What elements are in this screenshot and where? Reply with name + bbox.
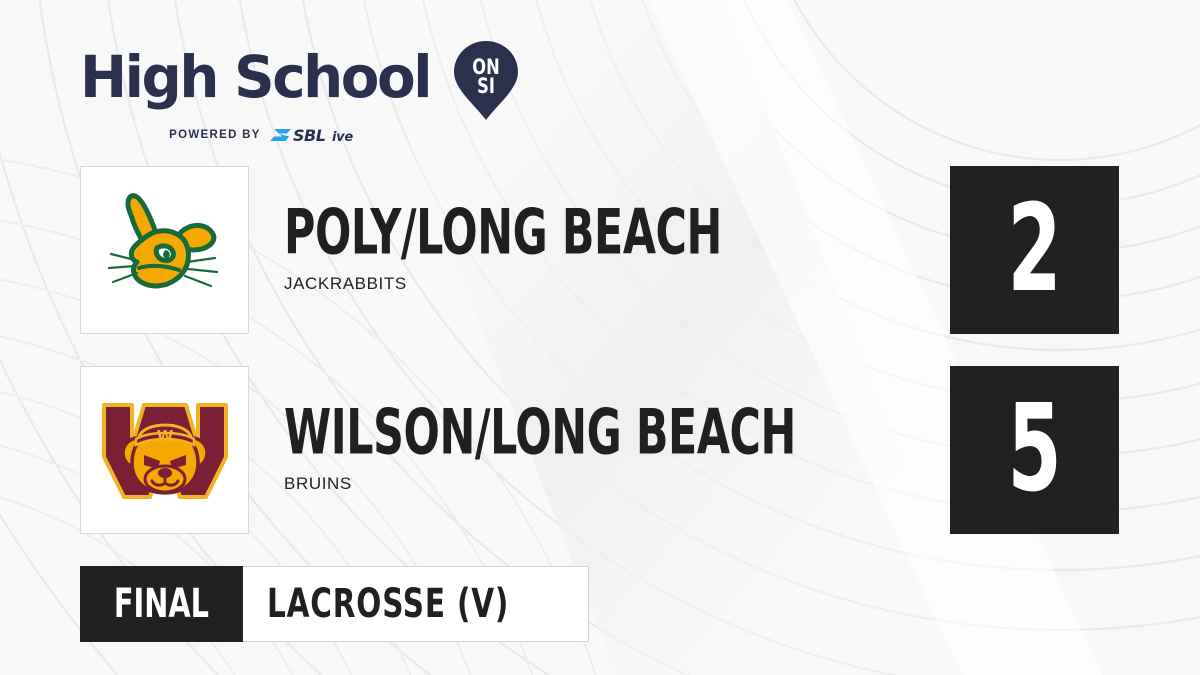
logo-row: High School ON SI xyxy=(80,38,519,118)
powered-by-row: POWERED BY SBL ive xyxy=(80,125,459,145)
team-mascot: JACKRABBITS xyxy=(284,274,818,294)
team-row: W WILSON/LONG BEACH BRUINS 5 xyxy=(0,366,1200,534)
team-row: POLY/LONG BEACH JACKRABBITS 2 xyxy=(0,166,1200,334)
status-badge-label: FINAL xyxy=(114,581,209,627)
svg-text:SBL: SBL xyxy=(293,126,326,145)
svg-text:SI: SI xyxy=(477,74,495,99)
powered-by-label: POWERED BY xyxy=(169,129,261,141)
on-si-pin-icon: ON SI xyxy=(453,41,519,121)
team-text-block: WILSON/LONG BEACH BRUINS xyxy=(284,366,908,534)
team-score-box: 2 xyxy=(950,166,1119,334)
team-logo-tile-wilson[interactable]: W xyxy=(80,366,249,534)
sblive-logo: SBL ive xyxy=(270,125,370,145)
team-score-box: 5 xyxy=(950,366,1119,534)
wordmark-high-school: High School xyxy=(80,50,430,105)
game-status-bar: FINAL LACROSSE (V) xyxy=(80,566,589,642)
team-score: 2 xyxy=(1007,190,1061,310)
sport-label-box: LACROSSE (V) xyxy=(243,566,589,642)
status-badge: FINAL xyxy=(80,566,243,642)
svg-text:W: W xyxy=(156,427,173,445)
team-mascot: BRUINS xyxy=(284,474,908,494)
site-logo-lockup: High School ON SI POWERED BY SBL ive xyxy=(80,38,519,145)
sport-label: LACROSSE (V) xyxy=(267,581,509,627)
team-text-block: POLY/LONG BEACH JACKRABBITS xyxy=(284,166,818,334)
team-name: WILSON/LONG BEACH xyxy=(284,404,796,462)
jackrabbit-head-logo xyxy=(95,180,235,320)
team-name: POLY/LONG BEACH xyxy=(284,204,722,262)
team-logo-tile-poly[interactable] xyxy=(80,166,249,334)
svg-text:ive: ive xyxy=(332,130,353,145)
team-score: 5 xyxy=(1007,390,1061,510)
bruin-bear-w-logo: W xyxy=(94,379,236,521)
